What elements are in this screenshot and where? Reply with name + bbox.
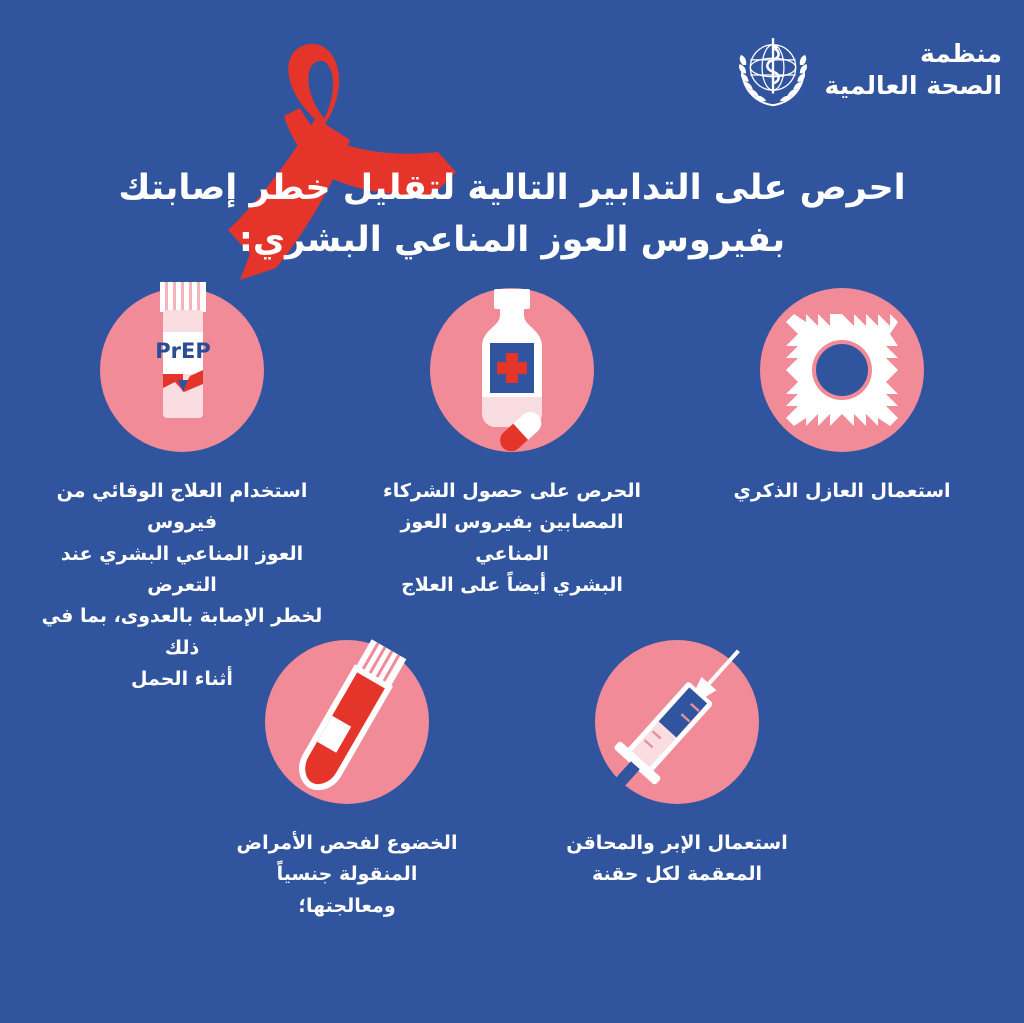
who-org-name: منظمة الصحة العالمية bbox=[825, 38, 1002, 102]
caption-line: المنقولة جنسياً bbox=[197, 859, 497, 890]
prep-label: PrEP bbox=[155, 339, 210, 363]
infographic-poster: منظمة الصحة العالمية bbox=[0, 0, 1024, 1023]
condom-wrapper-icon bbox=[760, 288, 924, 452]
caption-line: استعمال العازل الذكري bbox=[692, 476, 992, 507]
item-caption-treatment: الحرص على حصول الشركاء المصابين بفيروس ا… bbox=[362, 476, 662, 601]
items-row-bottom: استعمال الإبر والمحاقن المعقمة لكل حقنة bbox=[0, 640, 1024, 922]
caption-line: الحرص على حصول الشركاء bbox=[362, 476, 662, 507]
caption-line: ومعالجتها؛ bbox=[197, 891, 497, 922]
who-org-name-line2: الصحة العالمية bbox=[825, 71, 1002, 100]
caption-line: الخضوع لفحص الأمراض bbox=[197, 828, 497, 859]
item-caption-condom: استعمال العازل الذكري bbox=[692, 476, 992, 507]
medicine-bottle-icon bbox=[430, 288, 594, 452]
caption-line: استخدام العلاج الوقائي من فيروس bbox=[32, 476, 332, 539]
syringe-icon bbox=[595, 640, 759, 804]
item-card-syringe: استعمال الإبر والمحاقن المعقمة لكل حقنة bbox=[512, 640, 842, 922]
who-logo: منظمة الصحة العالمية bbox=[731, 28, 1002, 112]
who-org-name-line1: منظمة bbox=[920, 39, 1002, 68]
page-title-line1: احرص على التدابير التالية لتقليل خطر إصا… bbox=[42, 163, 982, 215]
page-title: احرص على التدابير التالية لتقليل خطر إصا… bbox=[42, 163, 982, 267]
caption-line: المعقمة لكل حقنة bbox=[527, 859, 827, 890]
caption-line: استعمال الإبر والمحاقن bbox=[527, 828, 827, 859]
blood-test-tube-icon bbox=[265, 640, 429, 804]
page-title-line2: بفيروس العوز المناعي البشري: bbox=[42, 215, 982, 267]
item-caption-syringe: استعمال الإبر والمحاقن المعقمة لكل حقنة bbox=[527, 828, 827, 891]
item-caption-testing: الخضوع لفحص الأمراض المنقولة جنسياً ومعا… bbox=[197, 828, 497, 922]
items-row-top: استعمال العازل الذكري bbox=[0, 288, 1024, 695]
caption-line: العوز المناعي البشري عند التعرض bbox=[32, 539, 332, 602]
caption-line: المصابين بفيروس العوز المناعي bbox=[362, 507, 662, 570]
prep-pill-bottle-icon: PrEP bbox=[100, 288, 264, 452]
caption-line: البشري أيضاً على العلاج bbox=[362, 570, 662, 601]
item-card-testing: الخضوع لفحص الأمراض المنقولة جنسياً ومعا… bbox=[182, 640, 512, 922]
who-emblem-icon bbox=[731, 28, 815, 112]
